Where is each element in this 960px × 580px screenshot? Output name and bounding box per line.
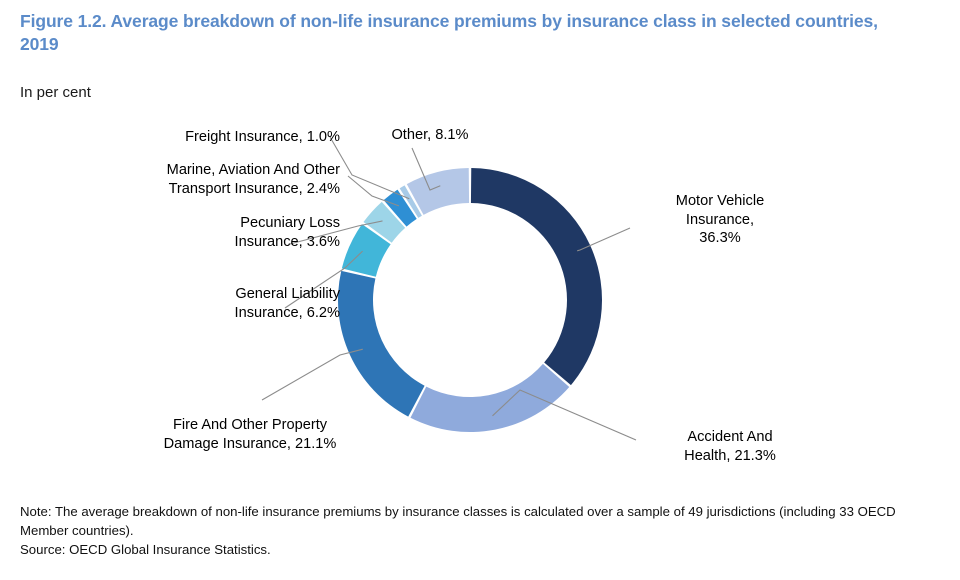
note-block: Note: The average breakdown of non-life … [20, 502, 938, 559]
source-text: Source: OECD Global Insurance Statistics… [20, 540, 938, 559]
slice-label-fire-property-damage: Fire And Other Property Damage Insurance… [120, 416, 380, 453]
slice-label-accident-health: Accident And Health, 21.3% [620, 428, 840, 465]
slice-label-freight-insurance: Freight Insurance, 1.0% [60, 128, 340, 147]
donut-slices [338, 168, 602, 432]
leader-line [262, 349, 363, 400]
donut-slice[interactable] [338, 271, 425, 417]
donut-chart: Freight Insurance, 1.0% Marine, Aviation… [0, 0, 960, 500]
note-text: Note: The average breakdown of non-life … [20, 502, 938, 540]
slice-label-other: Other, 8.1% [330, 126, 530, 145]
slice-label-general-liability: General Liability Insurance, 6.2% [60, 285, 340, 322]
donut-slice[interactable] [471, 168, 602, 385]
leader-line [330, 137, 409, 199]
slice-label-motor-vehicle: Motor Vehicle Insurance, 36.3% [620, 192, 820, 248]
slice-label-marine-aviation: Marine, Aviation And Other Transport Ins… [60, 161, 340, 198]
donut-slice[interactable] [410, 364, 569, 432]
slice-label-pecuniary-loss: Pecuniary Loss Insurance, 3.6% [60, 214, 340, 251]
